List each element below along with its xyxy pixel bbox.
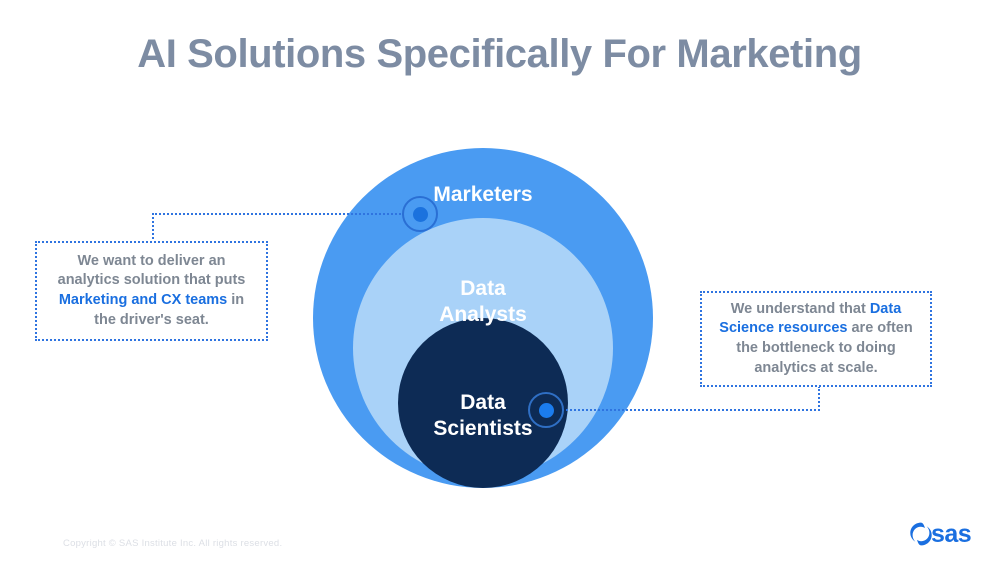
callout-left-highlight: Marketing and CX teams [59,292,227,308]
sas-wordmark: sas [931,522,971,547]
copyright-notice: Copyright © SAS Institute Inc. All right… [63,538,282,549]
callout-left: We want to deliver an analytics solution… [35,241,268,341]
connector-line-right-vertical [818,386,820,411]
slide-canvas: AI Solutions Specifically For Marketing … [0,0,999,562]
callout-right: We understand that Data Science resource… [700,291,932,387]
callout-left-text: We want to deliver an analytics solution… [47,252,256,330]
connector-line-right-horizontal [562,409,820,411]
callout-right-text: We understand that Data Science resource… [712,300,920,378]
target-dot-icon-marketers[interactable] [402,196,438,232]
circle-label-data-analysts: Data Analysts [393,276,573,327]
connector-line-left-vertical [152,213,154,243]
connector-line-left-horizontal [152,213,404,215]
marker-dot [539,403,554,418]
sas-logo[interactable]: sas [908,520,971,548]
callout-right-segment-1: We understand that [731,301,870,317]
marker-dot [413,207,428,222]
callout-left-segment-1: We want to deliver an analytics solution… [58,253,246,289]
target-dot-icon-data-scientists[interactable] [528,392,564,428]
